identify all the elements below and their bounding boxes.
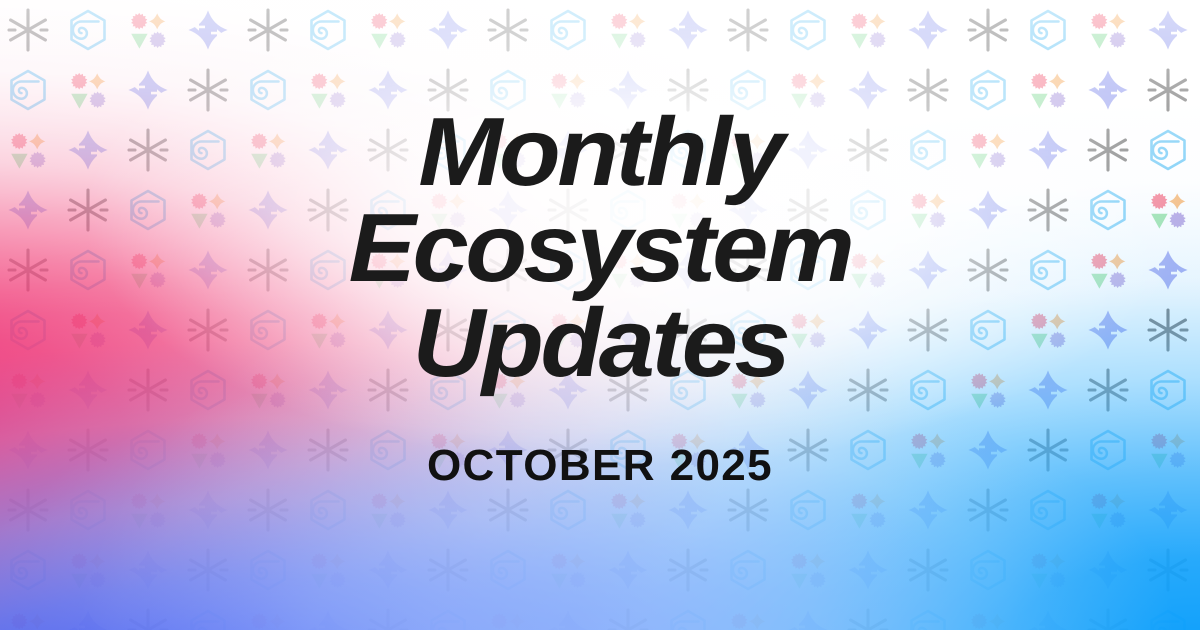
- banner-content: Monthly Ecosystem Updates OCTOBER 2025: [0, 0, 1200, 630]
- title-line-2: Ecosystem: [257, 200, 943, 296]
- page-title: Monthly Ecosystem Updates: [257, 104, 943, 391]
- title-line-3: Updates: [257, 295, 943, 391]
- banner-root: Monthly Ecosystem Updates OCTOBER 2025: [0, 0, 1200, 630]
- subtitle-date: OCTOBER 2025: [427, 391, 773, 491]
- title-line-1: Monthly: [257, 104, 943, 200]
